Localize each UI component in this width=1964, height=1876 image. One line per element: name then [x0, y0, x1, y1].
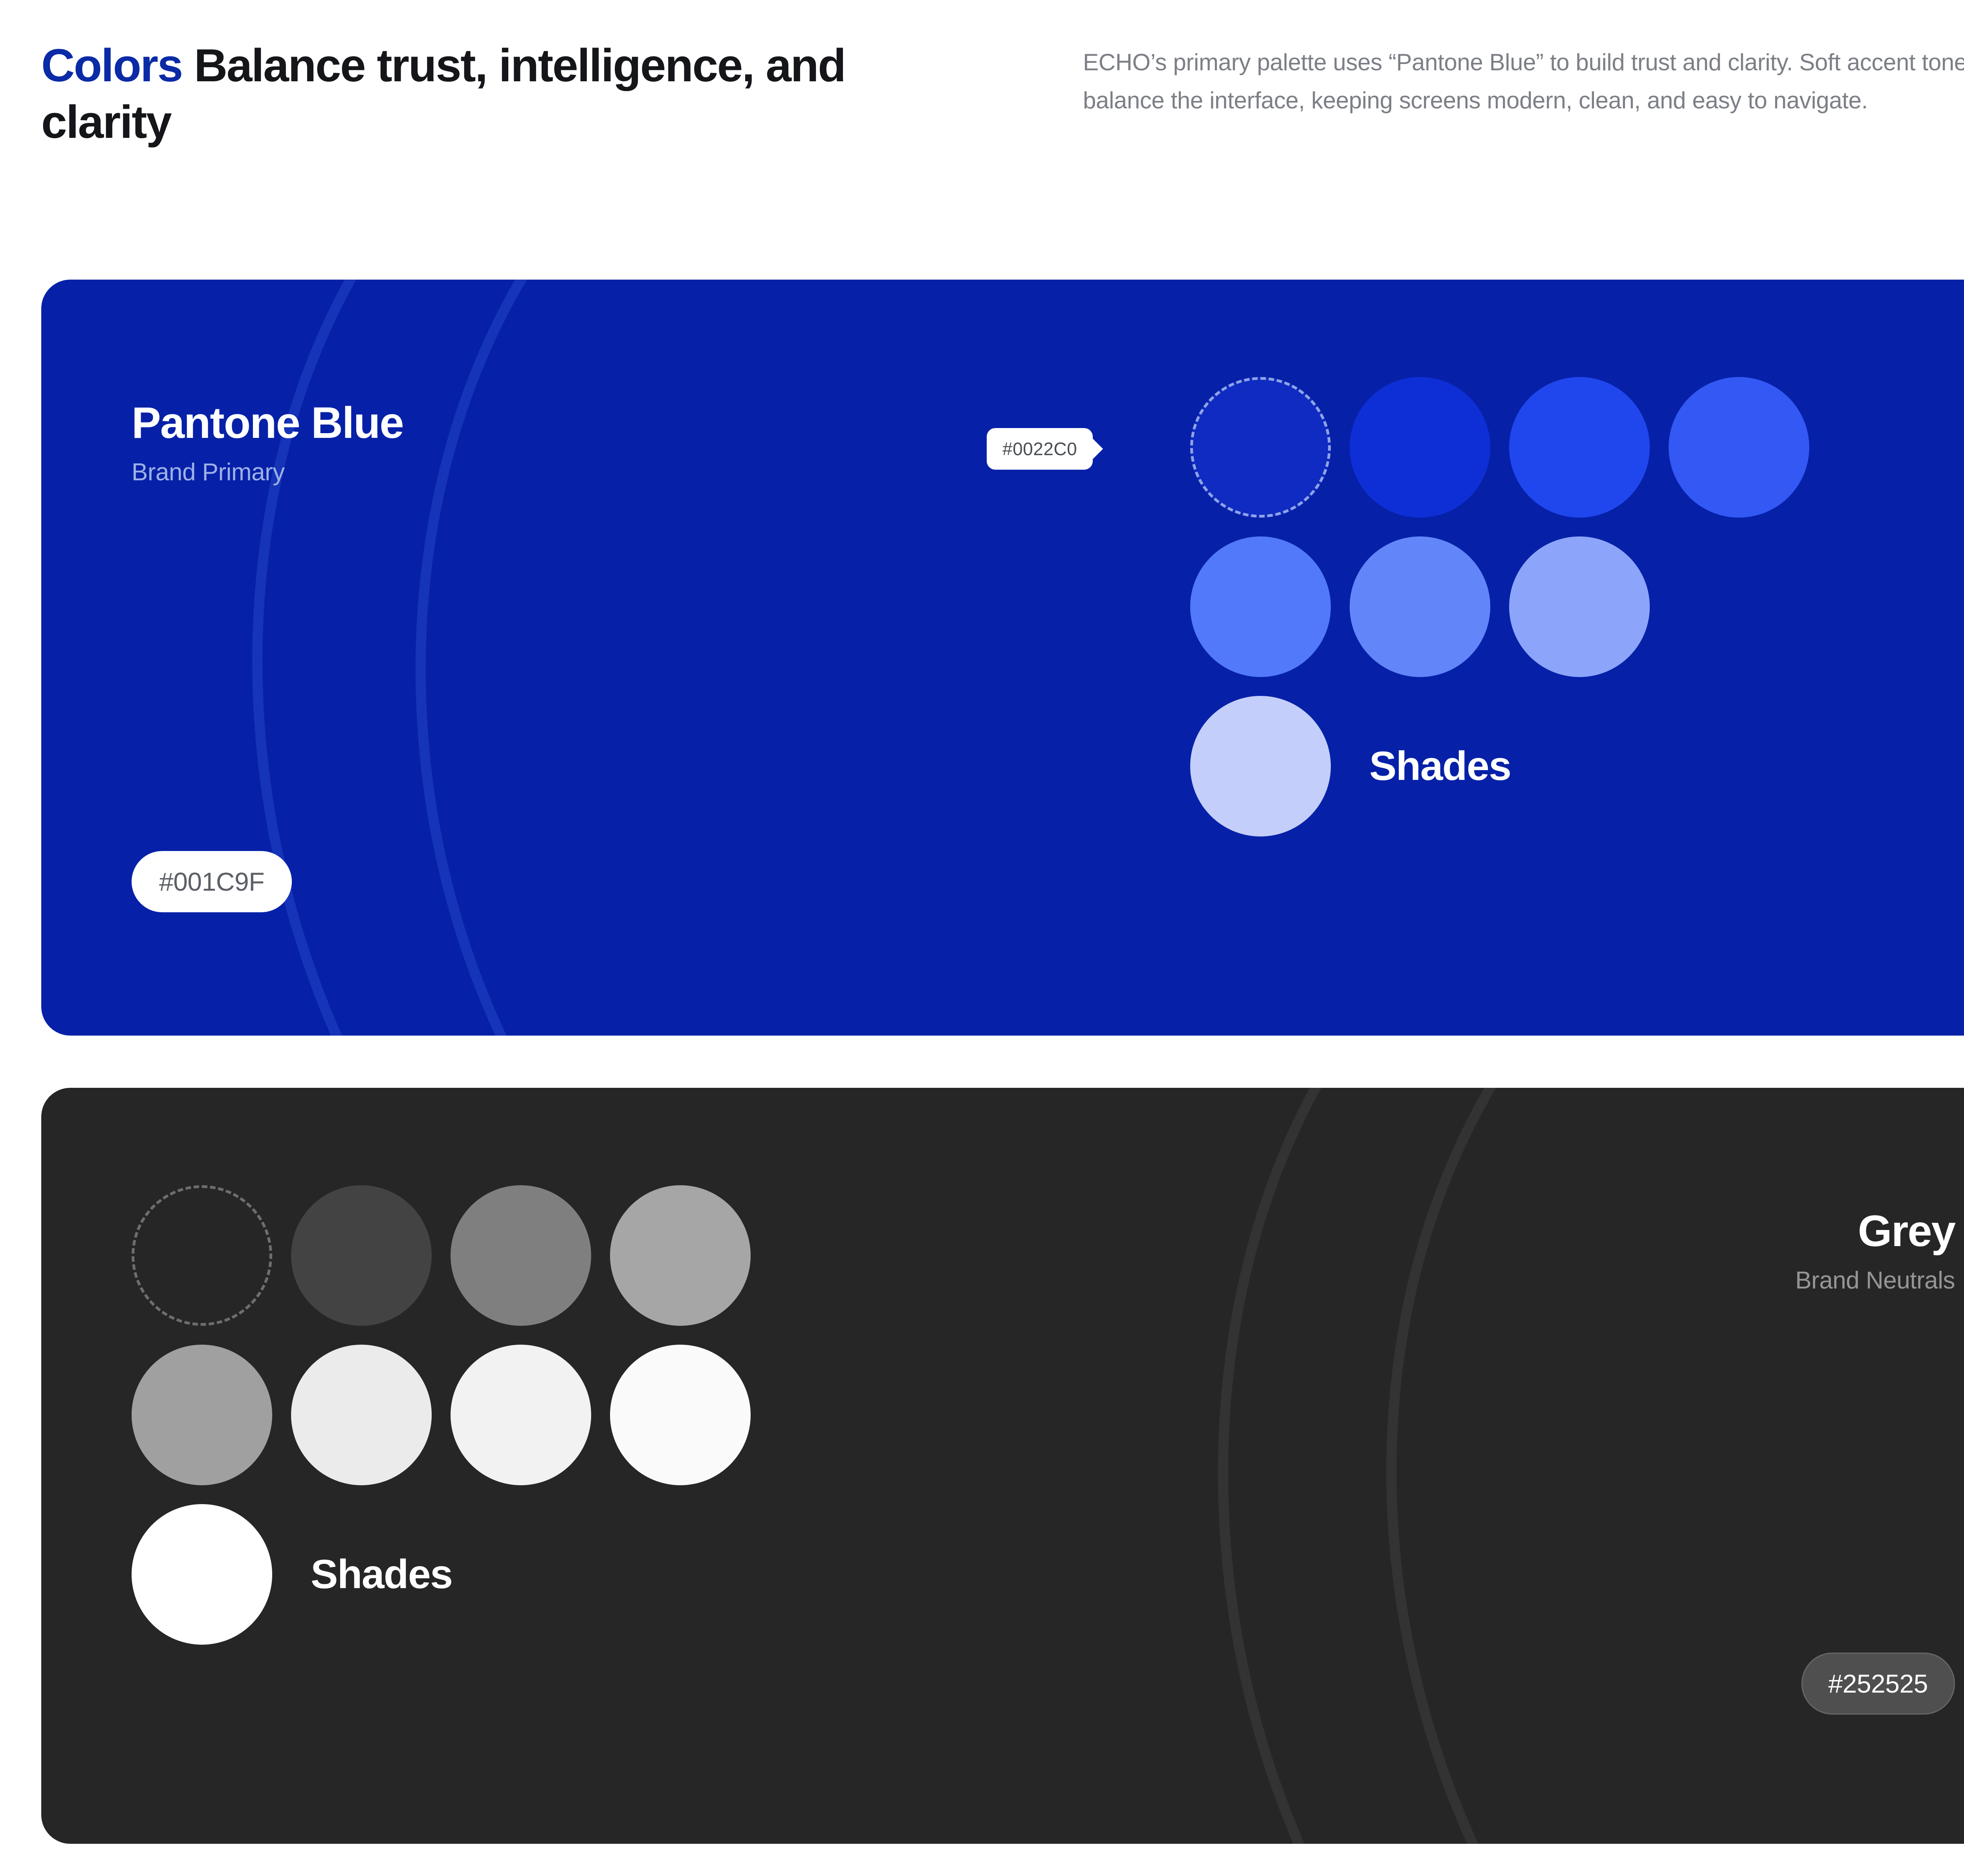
blue-card-info: Pantone Blue Brand Primary #001C9F [132, 280, 721, 1036]
blue-swatch-7[interactable] [1190, 696, 1331, 836]
blue-swatch-6[interactable] [1509, 536, 1650, 677]
grey-swatch-4[interactable] [132, 1345, 272, 1485]
grey-swatch-6[interactable] [451, 1345, 591, 1485]
blue-swatch-4[interactable] [1190, 536, 1331, 677]
grey-swatch-row-2 [132, 1345, 956, 1485]
grey-swatch-3[interactable] [610, 1185, 751, 1326]
blue-swatch-2[interactable] [1509, 377, 1650, 518]
color-palette-page: Colors Balance trust, intelligence, and … [0, 0, 1964, 1876]
page-title: Colors Balance trust, intelligence, and … [41, 38, 866, 151]
grey-swatch-5[interactable] [291, 1345, 432, 1485]
grey-swatch-row-1 [132, 1185, 956, 1326]
grey-hex-chip[interactable]: #252525 [1801, 1653, 1955, 1715]
blue-card-subtitle: Brand Primary [132, 458, 285, 486]
page-header: Colors Balance trust, intelligence, and … [41, 38, 1964, 151]
blue-card-title: Pantone Blue [132, 397, 403, 448]
grey-shades-label: Shades [311, 1551, 452, 1598]
intro-paragraph: ECHO’s primary palette uses “Pantone Blu… [1083, 38, 1964, 119]
blue-hex-tooltip: #0022C0 [987, 428, 1093, 470]
grey-swatch-0[interactable] [132, 1185, 272, 1326]
blue-hex-chip[interactable]: #001C9F [132, 851, 292, 912]
blue-shades-label: Shades [1369, 743, 1511, 790]
blue-swatch-3[interactable] [1669, 377, 1809, 518]
blue-swatch-5[interactable] [1350, 536, 1490, 677]
grey-swatch-2[interactable] [451, 1185, 591, 1326]
blue-swatch-0[interactable]: #0022C0 [1190, 377, 1331, 518]
grey-card-info: Grey Brand Neutrals #252525 [1405, 1088, 1955, 1844]
blue-swatch-1[interactable] [1350, 377, 1490, 518]
grey-swatch-8[interactable] [132, 1504, 272, 1645]
grey-neutrals-card: Shades Grey Brand Neutrals #252525 [41, 1088, 1964, 1844]
grey-swatch-row-3: Shades [132, 1504, 956, 1645]
blue-swatch-grid: #0022C0 Shades [1190, 377, 1964, 855]
grey-card-title: Grey [1405, 1206, 1955, 1256]
blue-swatch-row-3: Shades [1190, 696, 1964, 836]
blue-swatch-row-1: #0022C0 [1190, 377, 1964, 518]
grey-swatch-1[interactable] [291, 1185, 432, 1326]
page-title-accent: Colors [41, 40, 182, 92]
grey-swatch-grid: Shades [132, 1185, 956, 1664]
grey-swatch-7[interactable] [610, 1345, 751, 1485]
pantone-blue-card: Pantone Blue Brand Primary #001C9F #0022… [41, 280, 1964, 1036]
blue-swatch-row-2 [1190, 536, 1964, 677]
grey-card-subtitle: Brand Neutrals [1405, 1267, 1955, 1294]
